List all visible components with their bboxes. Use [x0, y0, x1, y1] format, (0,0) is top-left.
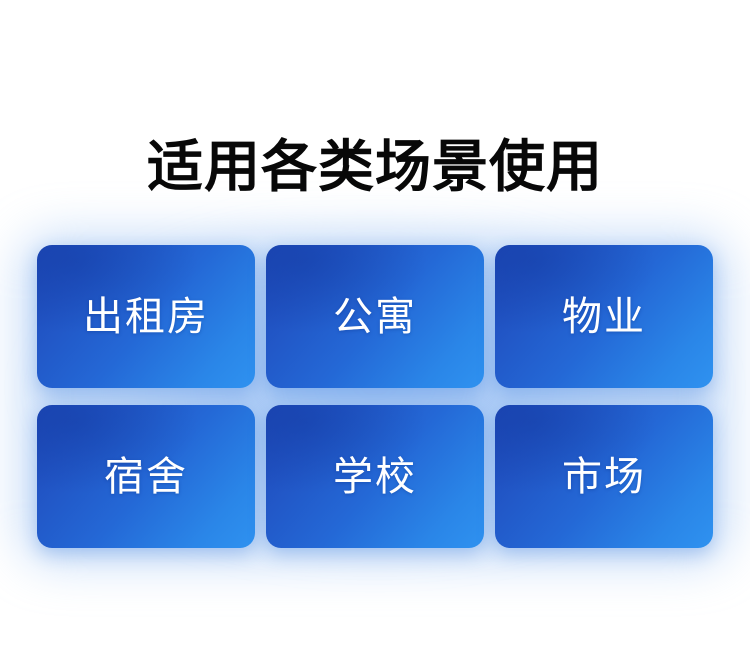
scene-card-property[interactable]: 物业	[495, 245, 713, 388]
scene-card-label: 出租房	[83, 294, 209, 340]
scene-card-label: 宿舍	[104, 454, 188, 500]
scene-card-market[interactable]: 市场	[495, 405, 713, 548]
scene-showcase-page: 适用各类场景使用 出租房 公寓 物业 宿舍 学校 市场	[0, 0, 750, 650]
scene-card-grid: 出租房 公寓 物业 宿舍 学校 市场	[37, 245, 713, 548]
scene-card-apartment[interactable]: 公寓	[266, 245, 484, 388]
scene-card-school[interactable]: 学校	[266, 405, 484, 548]
scene-card-label: 学校	[333, 454, 417, 500]
scene-card-label: 市场	[562, 454, 646, 500]
scene-card-label: 公寓	[333, 294, 417, 340]
scene-card-label: 物业	[562, 294, 646, 340]
scene-card-dormitory[interactable]: 宿舍	[37, 405, 255, 548]
scene-card-rental-house[interactable]: 出租房	[37, 245, 255, 388]
page-title: 适用各类场景使用	[0, 134, 750, 200]
